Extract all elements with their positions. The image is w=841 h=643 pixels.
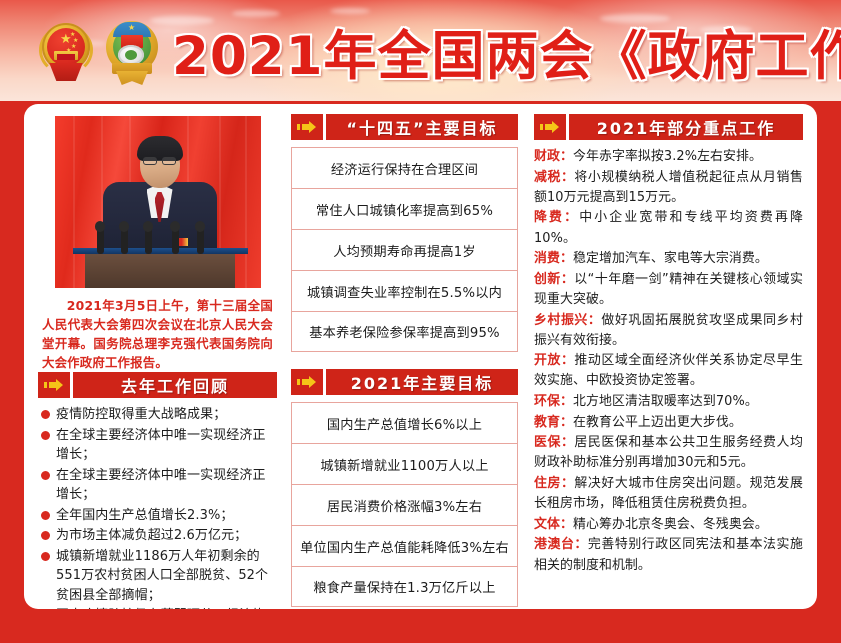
- left-column: 2021年3月5日上午，第十三届全国人民代表大会第四次会议在北京人民大会堂开幕。…: [36, 114, 283, 601]
- arrow-right-icon: [38, 372, 70, 398]
- list-item-label: 财政：: [534, 149, 573, 164]
- list-item-label: 开放：: [534, 353, 574, 368]
- list-item-text: 居民医保和基本公共卫生服务经费人均财政补助标准分别再增加30元和5元。: [534, 435, 803, 470]
- section-header-key-work: 2021年部分重点工作: [534, 114, 803, 140]
- section-title-key-work: 2021年部分重点工作: [569, 114, 803, 140]
- list-item: 环保：北方地区清洁取暖率达到70%。: [534, 392, 803, 412]
- list-item-text: 在全球主要经济体中唯一实现经济正增长；: [56, 426, 277, 465]
- bullet-dot-icon: [41, 431, 50, 440]
- section-title-2021-targets: 2021年主要目标: [326, 369, 518, 395]
- table-row: 单位国内生产总值能耗降低3%左右: [291, 525, 518, 566]
- list-item-text: 解决好大城市住房突出问题。规范发展长租房市场，降低租赁住房税费负担。: [534, 476, 803, 511]
- list-item-text: 推动区域全面经济伙伴关系协定尽早生效实施、中欧投资协定签署。: [534, 353, 803, 388]
- section-header-14th-plan: “十四五”主要目标: [291, 114, 518, 140]
- section-header-2021-targets: 2021年主要目标: [291, 369, 518, 395]
- section-header-review: 去年工作回顾: [38, 372, 277, 398]
- list-item-text: 以“十年磨一剑”精神在关键核心领域实现重大突破。: [534, 272, 803, 307]
- table-row: 基本养老保险参保率提高到95%: [291, 311, 518, 352]
- list-item: 减税：将小规模纳税人增值税起征点从月销售额10万元提高到15万元。: [534, 168, 803, 208]
- list-item-text: 稳定增加汽车、家电等大宗消费。: [573, 251, 768, 266]
- list-item: 住房：解决好大城市住房突出问题。规范发展长租房市场，降低租赁住房税费负担。: [534, 474, 803, 514]
- poster-root: ★ ★ ★ ★ ★ ★ 2021年全国两会《政府工作报告》要点: [0, 0, 841, 643]
- table-row: 居民消费价格涨幅3%左右: [291, 484, 518, 525]
- bullet-dot-icon: [41, 410, 50, 419]
- emblem-group: ★ ★ ★ ★ ★ ★: [36, 14, 164, 90]
- list-item: 在全球主要经济体中唯一实现经济正增长；: [38, 466, 277, 505]
- table-row: 常住人口城镇化率提高到65%: [291, 188, 518, 229]
- list-item-label: 教育：: [534, 415, 573, 430]
- table-14th-plan: 经济运行保持在合理区间常住人口城镇化率提高到65%人均预期寿命再提高1岁城镇调查…: [291, 147, 518, 352]
- table-row: 经济运行保持在合理区间: [291, 147, 518, 188]
- content-panel: 2021年3月5日上午，第十三届全国人民代表大会第四次会议在北京人民大会堂开幕。…: [24, 104, 817, 609]
- list-item-text: 在全球主要经济体中唯一实现经济正增长；: [56, 466, 277, 505]
- section-title-14th-plan: “十四五”主要目标: [326, 114, 518, 140]
- list-item-label: 港澳台：: [534, 537, 588, 552]
- list-item: 医保：居民医保和基本公共卫生服务经费人均财政补助标准分别再增加30元和5元。: [534, 433, 803, 473]
- bullet-dot-icon: [41, 531, 50, 540]
- list-item-text: 精心筹办北京冬奥会、冬残奥会。: [573, 517, 768, 532]
- arrow-right-icon: [291, 369, 323, 395]
- review-bullet-list: 疫情防控取得重大战略成果；在全球主要经济体中唯一实现经济正增长；在全球主要经济体…: [38, 405, 277, 643]
- list-item: 城镇新增就业1186万人年初剩余的551万农村贫困人口全部脱贫、52个贫困县全部…: [38, 547, 277, 606]
- arrow-right-icon: [291, 114, 323, 140]
- list-item: 在全球主要经济体中唯一实现经济正增长；: [38, 426, 277, 465]
- list-item-text: 今年赤字率拟按3.2%左右安排。: [573, 149, 762, 164]
- table-row: 城镇调查失业率控制在5.5%以内: [291, 270, 518, 311]
- list-item-text: 城镇新增就业1186万人年初剩余的551万农村贫困人口全部脱贫、52个贫困县全部…: [56, 547, 277, 606]
- list-item: 港澳台：完善特别行政区同宪法和基本法实施相关的制度和机制。: [534, 535, 803, 575]
- list-item: 创新：以“十年磨一剑”精神在关键核心领域实现重大突破。: [534, 270, 803, 310]
- conference-photo: [55, 116, 261, 288]
- list-item-label: 环保：: [534, 394, 573, 409]
- table-row: 国内生产总值增长6%以上: [291, 402, 518, 443]
- list-item-label: 消费：: [534, 251, 573, 266]
- key-work-list: 财政：今年赤字率拟按3.2%左右安排。减税：将小规模纳税人增值税起征点从月销售额…: [534, 147, 803, 576]
- bottom-red-strip: [0, 609, 841, 643]
- photo-caption: 2021年3月5日上午，第十三届全国人民代表大会第四次会议在北京人民大会堂开幕。…: [42, 297, 273, 372]
- bullet-dot-icon: [41, 511, 50, 520]
- table-row: 人均预期寿命再提高1岁: [291, 229, 518, 270]
- list-item: 全年国内生产总值增长2.3%；: [38, 506, 277, 526]
- table-row: 城镇新增就业1100万人以上: [291, 443, 518, 484]
- section-title-review: 去年工作回顾: [73, 372, 277, 398]
- list-item: 开放：推动区域全面经济伙伴关系协定尽早生效实施、中欧投资协定签署。: [534, 351, 803, 391]
- list-item-label: 创新：: [534, 272, 574, 287]
- list-item: 疫情防控取得重大战略成果；: [38, 405, 277, 425]
- left-red-border: [0, 101, 24, 643]
- list-item: 为市场主体减负超过2.6万亿元；: [38, 526, 277, 546]
- bullet-dot-icon: [41, 552, 50, 561]
- table-row: 粮食产量保持在1.3万亿斤以上: [291, 566, 518, 607]
- list-item: 降费：中小企业宽带和专线平均资费再降10%。: [534, 208, 803, 248]
- poster-header: ★ ★ ★ ★ ★ ★ 2021年全国两会《政府工作报告》要点: [0, 0, 841, 101]
- list-item: 教育：在教育公平上迈出更大步伐。: [534, 413, 803, 433]
- list-item-label: 降费：: [534, 210, 579, 225]
- page-title: 2021年全国两会《政府工作报告》要点: [172, 16, 822, 88]
- middle-column: “十四五”主要目标 经济运行保持在合理区间常住人口城镇化率提高到65%人均预期寿…: [283, 114, 526, 601]
- list-item: 消费：稳定增加汽车、家电等大宗消费。: [534, 249, 803, 269]
- list-item-text: 全年国内生产总值增长2.3%；: [56, 506, 277, 526]
- table-2021-targets: 国内生产总值增长6%以上城镇新增就业1100万人以上居民消费价格涨幅3%左右单位…: [291, 402, 518, 607]
- list-item-label: 文体：: [534, 517, 573, 532]
- national-emblem-icon: ★ ★ ★ ★ ★: [36, 15, 96, 89]
- list-item-label: 医保：: [534, 435, 574, 450]
- list-item-text: 北方地区清洁取暖率达到70%。: [573, 394, 758, 409]
- list-item-label: 住房：: [534, 476, 574, 491]
- list-item-text: 疫情防控取得重大战略成果；: [56, 405, 277, 425]
- list-item-label: 减税：: [534, 170, 574, 185]
- list-item-label: 乡村振兴：: [534, 313, 601, 328]
- list-item: 乡村振兴：做好巩固拓展脱贫攻坚成果同乡村振兴有效衔接。: [534, 311, 803, 351]
- list-item-text: 将小规模纳税人增值税起征点从月销售额10万元提高到15万元。: [534, 170, 803, 205]
- arrow-right-icon: [534, 114, 566, 140]
- right-red-border: [817, 101, 841, 643]
- list-item: 财政：今年赤字率拟按3.2%左右安排。: [534, 147, 803, 167]
- list-item-text: 为市场主体减负超过2.6万亿元；: [56, 526, 277, 546]
- bullet-dot-icon: [41, 471, 50, 480]
- list-item: 文体：精心筹办北京冬奥会、冬残奥会。: [534, 515, 803, 535]
- list-item-text: 在教育公平上迈出更大步伐。: [573, 415, 742, 430]
- cppcc-emblem-icon: ★: [102, 15, 162, 89]
- right-column: 2021年部分重点工作 财政：今年赤字率拟按3.2%左右安排。减税：将小规模纳税…: [526, 114, 805, 601]
